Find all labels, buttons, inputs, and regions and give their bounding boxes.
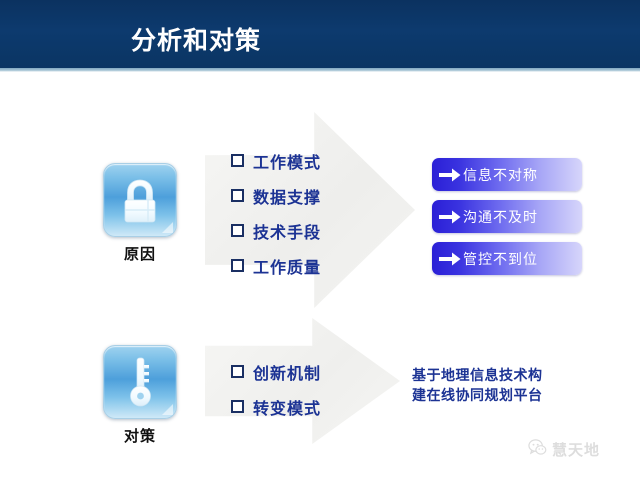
- cause-icon-label: 原因: [85, 243, 195, 264]
- result-bar-group: 信息不对称 沟通不及时 管控不到位: [432, 158, 582, 284]
- square-bullet-icon: [231, 400, 244, 413]
- lock-icon-tile: [103, 163, 177, 237]
- list-item: 工作质量: [231, 248, 321, 283]
- slide-root: 分析和对策 原因: [0, 0, 640, 480]
- square-bullet-icon: [231, 259, 244, 272]
- slide-header: [0, 0, 640, 68]
- square-bullet-icon: [231, 189, 244, 202]
- list-item-label: 工作模式: [253, 149, 321, 173]
- key-icon-tile: [103, 345, 177, 419]
- result-bar: 管控不到位: [432, 242, 582, 275]
- result-bar-label: 沟通不及时: [463, 207, 538, 227]
- header-accent-line: [0, 68, 640, 72]
- arrow-right-icon: [437, 252, 463, 266]
- measure-icon-block: 对策: [85, 345, 195, 446]
- result-bar: 信息不对称: [432, 158, 582, 191]
- result-bar-label: 信息不对称: [463, 165, 538, 185]
- list-item: 数据支撑: [231, 178, 321, 213]
- conclusion-text: 基于地理信息技术构 建在线协同规划平台: [412, 366, 612, 406]
- arrow-right-icon: [437, 168, 463, 182]
- result-bar-label: 管控不到位: [463, 249, 538, 269]
- square-bullet-icon: [231, 365, 244, 378]
- list-item: 工作模式: [231, 143, 321, 178]
- key-icon: [104, 346, 176, 418]
- list-item-label: 技术手段: [253, 219, 321, 243]
- square-bullet-icon: [231, 224, 244, 237]
- list-item-label: 数据支撑: [253, 184, 321, 208]
- measure-bullet-list: 创新机制 转变模式: [231, 354, 321, 424]
- list-item: 转变模式: [231, 389, 321, 424]
- cause-bullet-list: 工作模式 数据支撑 技术手段 工作质量: [231, 143, 321, 283]
- measure-icon-label: 对策: [85, 425, 195, 446]
- conclusion-line-1: 基于地理信息技术构: [412, 366, 612, 386]
- watermark: 慧天地: [528, 438, 600, 461]
- list-item: 创新机制: [231, 354, 321, 389]
- list-item-label: 创新机制: [253, 360, 321, 384]
- result-bar: 沟通不及时: [432, 200, 582, 233]
- list-item: 技术手段: [231, 213, 321, 248]
- conclusion-line-2: 建在线协同规划平台: [412, 386, 612, 406]
- list-item-label: 工作质量: [253, 254, 321, 278]
- lock-icon: [104, 164, 176, 236]
- page-title: 分析和对策: [131, 26, 261, 56]
- square-bullet-icon: [231, 154, 244, 167]
- wechat-icon: [528, 438, 547, 461]
- cause-icon-block: 原因: [85, 163, 195, 264]
- arrow-right-icon: [437, 210, 463, 224]
- watermark-label: 慧天地: [552, 439, 600, 460]
- list-item-label: 转变模式: [253, 395, 321, 419]
